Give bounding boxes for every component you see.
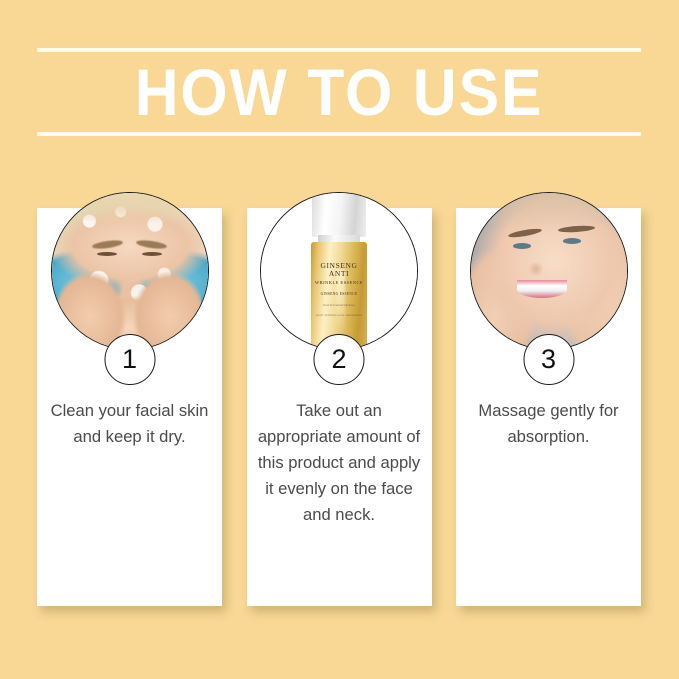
steps-container: 1 Clean your facial skin and keep it dry…	[37, 208, 641, 608]
bottle-shape: GINSENG ANTI WRINKLE ESSENCE GINSENG ESS…	[310, 193, 368, 349]
woman-massaging-face-photo	[471, 193, 627, 349]
product-label-line-4: GINSENG ESSENCE	[310, 291, 368, 297]
step-3-photo-frame	[470, 192, 628, 350]
eyebrow-right-shape	[135, 239, 167, 250]
title-rule-bottom	[37, 132, 641, 136]
how-to-use-infographic: { "theme": { "background": "#f8d894", "r…	[0, 0, 679, 679]
eye-left-shape	[513, 243, 532, 249]
product-label-line-5: TIGHTEN MOISTURIZING	[310, 304, 368, 308]
step-caption-1: Clean your facial skin and keep it dry.	[47, 398, 212, 450]
step-2-photo-frame: GINSENG ANTI WRINKLE ESSENCE GINSENG ESS…	[260, 192, 418, 350]
product-label-line-6: LIGHT TEXTURE EASY ABSORPTION	[310, 314, 368, 318]
header: HOW TO USE	[37, 48, 641, 138]
hair-shape	[483, 192, 614, 230]
step-caption-3: Massage gently for absorption.	[466, 398, 631, 450]
eye-right-shape	[563, 238, 582, 244]
mouth-shape	[517, 280, 567, 297]
step-caption-2: Take out an appropriate amount of this p…	[257, 398, 422, 528]
product-label: GINSENG ANTI WRINKLE ESSENCE GINSENG ESS…	[310, 262, 368, 318]
eye-left-shape	[97, 252, 117, 256]
ginseng-serum-bottle-photo: GINSENG ANTI WRINKLE ESSENCE GINSENG ESS…	[261, 193, 417, 349]
woman-washing-face-photo	[52, 193, 208, 349]
nose-shape	[528, 262, 544, 276]
step-card-1[interactable]: 1 Clean your facial skin and keep it dry…	[37, 208, 222, 606]
bottle-cap-shape	[312, 193, 366, 237]
step-card-2[interactable]: GINSENG ANTI WRINKLE ESSENCE GINSENG ESS…	[247, 208, 432, 606]
step-number-badge-3: 3	[523, 334, 574, 385]
eyebrow-left-shape	[508, 228, 543, 240]
product-label-line-3: WRINKLE ESSENCE	[310, 279, 368, 286]
step-number-badge-2: 2	[314, 334, 365, 385]
step-1-photo-frame	[51, 192, 209, 350]
step-number-badge-1: 1	[104, 334, 155, 385]
product-label-line-2: ANTI	[310, 270, 368, 278]
eye-right-shape	[142, 252, 162, 256]
step-card-3[interactable]: 3 Massage gently for absorption.	[456, 208, 641, 606]
eyebrow-left-shape	[92, 239, 124, 250]
page-title: HOW TO USE	[61, 52, 617, 132]
hair-shape	[51, 192, 209, 224]
